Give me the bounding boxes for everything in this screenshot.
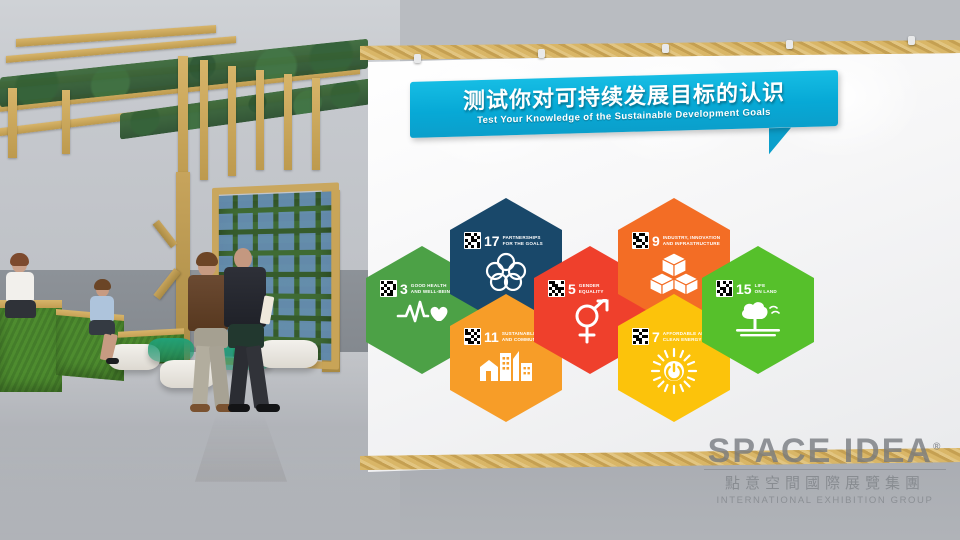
grass-counter-left <box>0 308 62 392</box>
qr-code-icon-9[interactable] <box>632 232 649 249</box>
sdg-number-9: 9 <box>652 234 660 248</box>
qr-code-icon-3[interactable] <box>380 280 397 297</box>
sdg-number-17: 17 <box>484 234 500 248</box>
sun-power-icon <box>618 345 730 422</box>
sdg-label-15: LIFE ON LAND <box>755 283 777 294</box>
sdg-label-17: PARTNERSHIPS FOR THE GOALS <box>503 235 543 246</box>
city-buildings-icon <box>450 345 562 422</box>
sdg-label-7: AFFORDABLE AND CLEAN ENERGY <box>663 331 709 342</box>
registered-mark: ® <box>933 442 942 453</box>
sdg-label-5: GENDER EQUALITY <box>579 283 604 294</box>
sdg-number-7: 7 <box>652 330 660 344</box>
qr-code-icon-11[interactable] <box>464 328 481 345</box>
sdg-number-3: 3 <box>400 282 408 296</box>
watermark: SPACE IDEA® 點意空間國際展覽集團 INTERNATIONAL EXH… <box>700 434 950 504</box>
sdg-number-5: 5 <box>568 282 576 296</box>
qr-code-icon-15[interactable] <box>716 280 733 297</box>
sdg-label-9: INDUSTRY, INNOVATION AND INFRASTRUCTURE <box>663 235 721 246</box>
pouffe-green-1 <box>148 338 194 362</box>
qr-code-icon-5[interactable] <box>548 280 565 297</box>
sdg-number-11: 11 <box>484 330 499 344</box>
sdg-number-15: 15 <box>736 282 752 296</box>
watermark-brand: SPACE IDEA® <box>700 434 950 468</box>
qr-code-icon-17[interactable] <box>464 232 481 249</box>
sdg-label-3: GOOD HEALTH AND WELL-BEING <box>411 283 454 294</box>
watermark-name-en: INTERNATIONAL EXHIBITION GROUP <box>700 495 950 506</box>
sdg-hexagon-cluster: 3 GOOD HEALTH AND WELL-BEING <box>352 18 960 488</box>
qr-code-icon-7[interactable] <box>632 328 649 345</box>
watermark-name-cn: 點意空間國際展覽集團 <box>700 472 950 493</box>
exhibit-wall: 测试你对可持续发展目标的认识 Test Your Knowledge of th… <box>352 18 960 488</box>
pouffe-white-3 <box>258 340 318 368</box>
exhibition-render-scene: 测试你对可持续发展目标的认识 Test Your Knowledge of th… <box>0 0 960 540</box>
